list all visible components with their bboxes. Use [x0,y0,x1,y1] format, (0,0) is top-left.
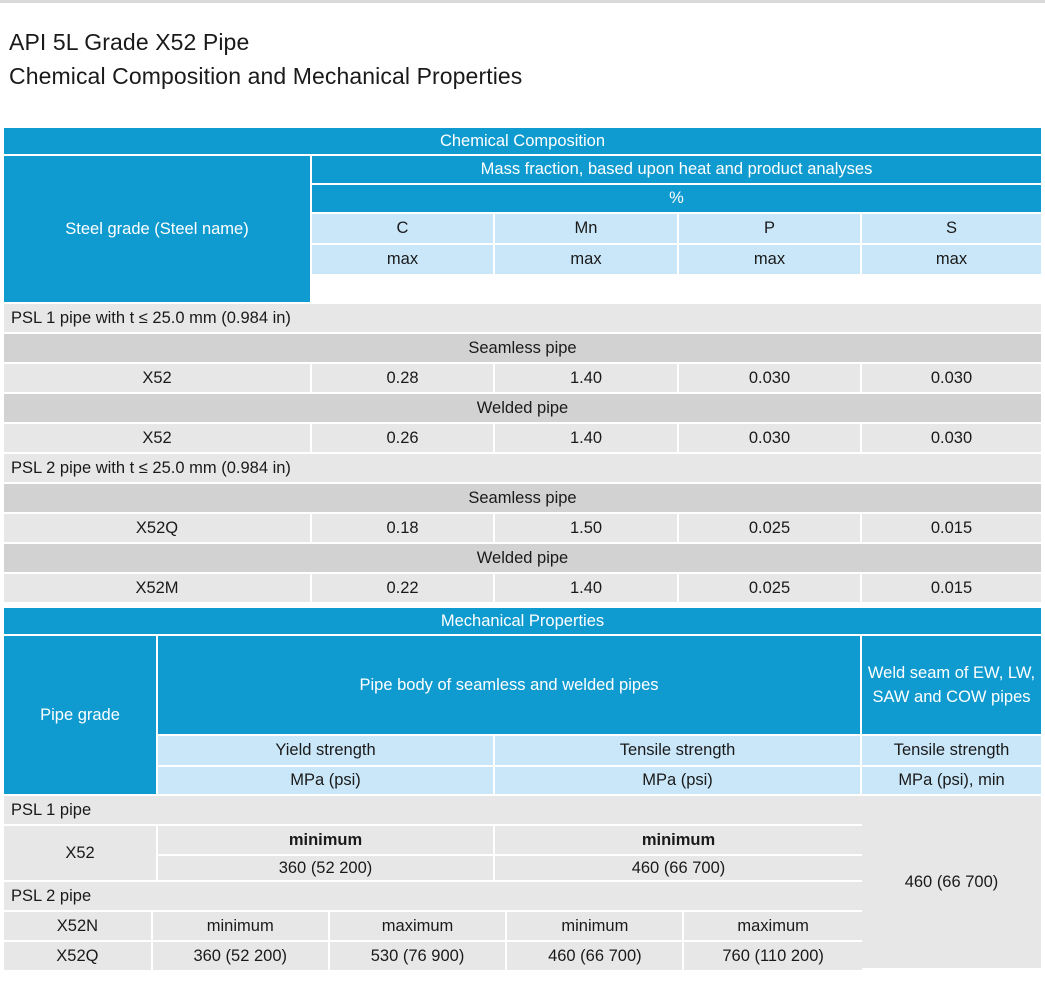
cell-mn: 1.40 [495,424,679,454]
title-line-2: Chemical Composition and Mechanical Prop… [9,59,1029,93]
psl2-tensile-max: 760 (110 200) [684,942,862,972]
chemical-composition-title: Chemical Composition [4,128,1041,156]
cell-p: 0.025 [679,514,862,544]
cell-mn: 1.50 [495,514,679,544]
header-block: Pipe grade Pipe body of seamless and wel… [4,636,1041,796]
limit-header-p: max [679,245,862,276]
top-divider [0,0,1045,3]
psl2-qualifier-row: X52N minimum maximum minimum maximum [4,912,862,942]
mechanical-properties-table: Mechanical Properties Pipe grade Pipe bo… [4,608,1041,972]
psl2-yield-min: 360 (52 200) [153,942,330,972]
group-header-row: Welded pipe [4,394,1041,424]
psl2-label: PSL 2 pipe with t ≤ 25.0 mm (0.984 in) [4,454,1041,484]
tensile-strength-header: Tensile strength [495,736,862,767]
cell-p: 0.025 [679,574,862,604]
psl2-qualifier-grade: X52N [4,912,153,942]
steel-grade-header: Steel grade (Steel name) [4,156,312,304]
cell-mn: 1.40 [495,574,679,604]
table-row: X52 0.28 1.40 0.030 0.030 [4,364,1041,394]
psl2-value-grade: X52Q [4,942,153,972]
group-label-seamless: Seamless pipe [4,484,1041,514]
element-limit-row: max max max max [312,245,1041,276]
cell-grade: X52M [4,574,312,604]
psl2-yield-max: 530 (76 900) [330,942,508,972]
psl1-label: PSL 1 pipe [4,796,862,826]
weld-tensile-header: Tensile strength [862,736,1041,767]
weld-seam-value: 460 (66 700) [862,796,1041,970]
psl1-data-block: X52 minimum minimum 360 (52 200) 460 (66… [4,826,862,882]
element-symbol-row: C Mn P S [312,214,1041,245]
cell-c: 0.26 [312,424,495,454]
group-header-row: Seamless pipe [4,334,1041,364]
element-header-c: C [312,214,495,245]
chemical-composition-table: Chemical Composition Steel grade (Steel … [4,128,1041,604]
psl2-tensile-max-label: maximum [684,912,862,942]
psl1-grade: X52 [4,826,158,882]
pipe-grade-header: Pipe grade [4,636,158,796]
cell-c: 0.18 [312,514,495,544]
body-left-stack: PSL 1 pipe X52 minimum minimum 360 (52 2… [4,796,862,972]
title-line-1: API 5L Grade X52 Pipe [9,25,1029,59]
cell-mn: 1.40 [495,364,679,394]
psl-section-header: PSL 2 pipe with t ≤ 25.0 mm (0.984 in) [4,454,1041,484]
psl2-tensile-min: 460 (66 700) [507,942,684,972]
group-label-seamless: Seamless pipe [4,334,1041,364]
psl2-yield-max-label: maximum [330,912,508,942]
group-header-row: Welded pipe [4,544,1041,574]
psl-section-header: PSL 1 pipe [4,796,862,826]
psl2-value-row: X52Q 360 (52 200) 530 (76 900) 460 (66 7… [4,942,862,972]
psl1-values-stack: minimum minimum 360 (52 200) 460 (66 700… [158,826,862,882]
psl-section-header: PSL 1 pipe with t ≤ 25.0 mm (0.984 in) [4,304,1041,334]
unit-header: % [312,185,1041,214]
strength-header-row: Yield strength Tensile strength [158,736,862,767]
psl2-tensile-min-label: minimum [507,912,684,942]
body-block: PSL 1 pipe X52 minimum minimum 360 (52 2… [4,796,1041,972]
cell-s: 0.015 [862,514,1041,544]
weld-seam-stack: Weld seam of EW, LW, SAW and COW pipes T… [862,636,1041,796]
group-header-row: Seamless pipe [4,484,1041,514]
table-row: X52Q 0.18 1.50 0.025 0.015 [4,514,1041,544]
cell-c: 0.22 [312,574,495,604]
weld-unit: MPa (psi), min [862,767,1041,796]
cell-grade: X52Q [4,514,312,544]
psl2-yield-min-label: minimum [153,912,330,942]
psl1-tensile-value: 460 (66 700) [495,856,862,882]
document-page: API 5L Grade X52 Pipe Chemical Compositi… [0,0,1045,983]
weld-strength-row: Tensile strength [862,736,1041,767]
psl1-label: PSL 1 pipe with t ≤ 25.0 mm (0.984 in) [4,304,1041,334]
header-block: Steel grade (Steel name) Mass fraction, … [4,156,1041,304]
yield-unit: MPa (psi) [158,767,495,796]
weld-unit-row: MPa (psi), min [862,767,1041,796]
psl1-yield-qualifier: minimum [158,826,495,856]
table-title-row: Chemical Composition [4,128,1041,156]
limit-header-mn: max [495,245,679,276]
cell-p: 0.030 [679,364,862,394]
table-row: X52 0.26 1.40 0.030 0.030 [4,424,1041,454]
unit-row: % [312,185,1041,214]
group-label-welded: Welded pipe [4,394,1041,424]
psl1-qualifier-row: minimum minimum [158,826,862,856]
cell-c: 0.28 [312,364,495,394]
cell-p: 0.030 [679,424,862,454]
mass-fraction-row: Mass fraction, based upon heat and produ… [312,156,1041,185]
cell-s: 0.015 [862,574,1041,604]
table-title-row: Mechanical Properties [4,608,1041,636]
cell-grade: X52 [4,424,312,454]
psl1-value-row: 360 (52 200) 460 (66 700) [158,856,862,882]
element-header-s: S [862,214,1041,245]
yield-strength-header: Yield strength [158,736,495,767]
mass-fraction-header: Mass fraction, based upon heat and produ… [312,156,1041,185]
weld-seam-row: Weld seam of EW, LW, SAW and COW pipes [862,636,1041,736]
table-row: X52M 0.22 1.40 0.025 0.015 [4,574,1041,604]
element-header-p: P [679,214,862,245]
element-header-mn: Mn [495,214,679,245]
weld-seam-header: Weld seam of EW, LW, SAW and COW pipes [862,636,1041,736]
psl2-label: PSL 2 pipe [4,882,862,912]
header-right-stack: Mass fraction, based upon heat and produ… [312,156,1041,304]
pipe-body-header: Pipe body of seamless and welded pipes [158,636,862,736]
cell-grade: X52 [4,364,312,394]
psl1-tensile-qualifier: minimum [495,826,862,856]
mechanical-properties-title: Mechanical Properties [4,608,1041,636]
group-label-welded: Welded pipe [4,544,1041,574]
limit-header-s: max [862,245,1041,276]
strength-unit-row: MPa (psi) MPa (psi) [158,767,862,796]
pipe-body-stack: Pipe body of seamless and welded pipes Y… [158,636,862,796]
tensile-unit: MPa (psi) [495,767,862,796]
limit-header-c: max [312,245,495,276]
page-title: API 5L Grade X52 Pipe Chemical Compositi… [9,25,1029,93]
psl-section-header: PSL 2 pipe [4,882,862,912]
psl1-yield-value: 360 (52 200) [158,856,495,882]
cell-s: 0.030 [862,424,1041,454]
cell-s: 0.030 [862,364,1041,394]
pipe-body-row: Pipe body of seamless and welded pipes [158,636,862,736]
